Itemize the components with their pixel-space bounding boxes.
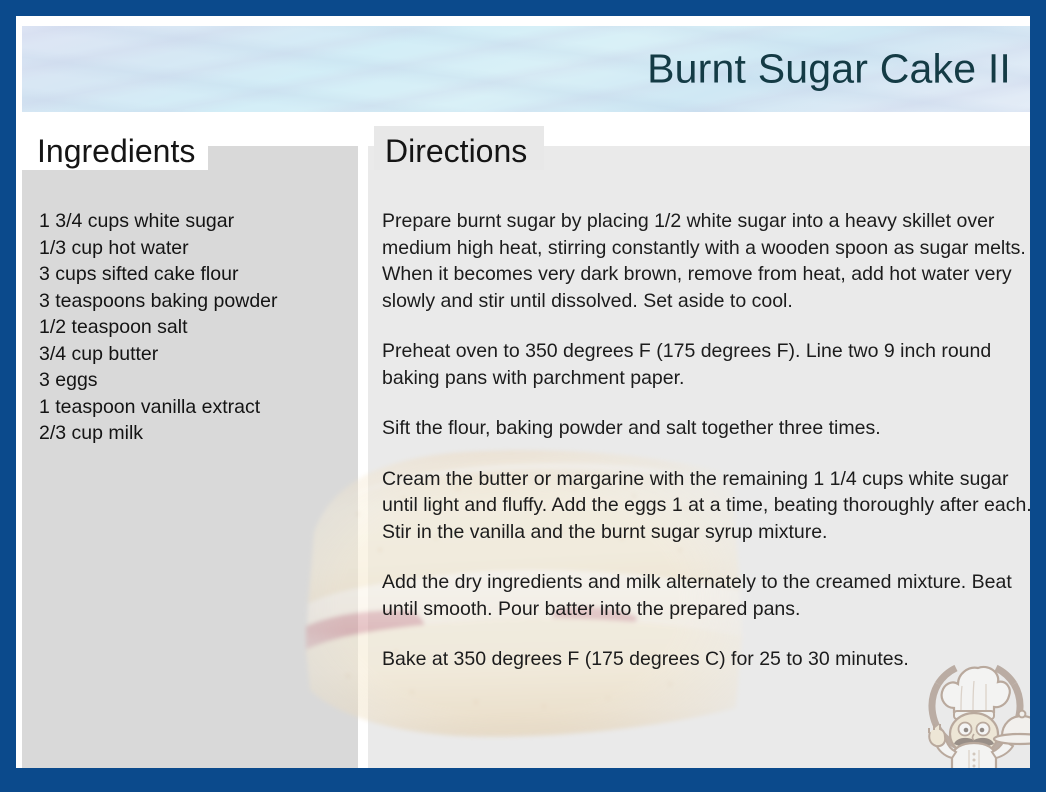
ingredient-item: 1/3 cup hot water [39, 235, 349, 262]
directions-heading: Directions [385, 133, 527, 170]
direction-step: Prepare burnt sugar by placing 1/2 white… [382, 208, 1030, 314]
ingredient-item: 3 eggs [39, 367, 349, 394]
direction-step: Cream the butter or margarine with the r… [382, 466, 1030, 546]
ingredient-item: 3/4 cup butter [39, 341, 349, 368]
direction-step: Preheat oven to 350 degrees F (175 degre… [382, 338, 1030, 391]
ingredient-item: 3 teaspoons baking powder [39, 288, 349, 315]
ingredient-item: 2/3 cup milk [39, 420, 349, 447]
direction-step: Sift the flour, baking powder and salt t… [382, 415, 1030, 442]
page-title: Burnt Sugar Cake II [647, 46, 1011, 93]
ingredients-list: 1 3/4 cups white sugar 1/3 cup hot water… [39, 208, 349, 447]
title-banner: Burnt Sugar Cake II [22, 26, 1030, 112]
recipe-card: Burnt Sugar Cake II [0, 0, 1046, 792]
direction-step: Bake at 350 degrees F (175 degrees C) fo… [382, 646, 1030, 673]
directions-body: Prepare burnt sugar by placing 1/2 white… [382, 208, 1030, 697]
direction-step: Add the dry ingredients and milk alterna… [382, 569, 1030, 622]
ingredient-item: 3 cups sifted cake flour [39, 261, 349, 288]
ingredient-item: 1/2 teaspoon salt [39, 314, 349, 341]
ingredients-heading: Ingredients [37, 133, 195, 170]
card-inner-surface: Burnt Sugar Cake II [16, 16, 1030, 768]
ingredient-item: 1 3/4 cups white sugar [39, 208, 349, 235]
ingredient-item: 1 teaspoon vanilla extract [39, 394, 349, 421]
